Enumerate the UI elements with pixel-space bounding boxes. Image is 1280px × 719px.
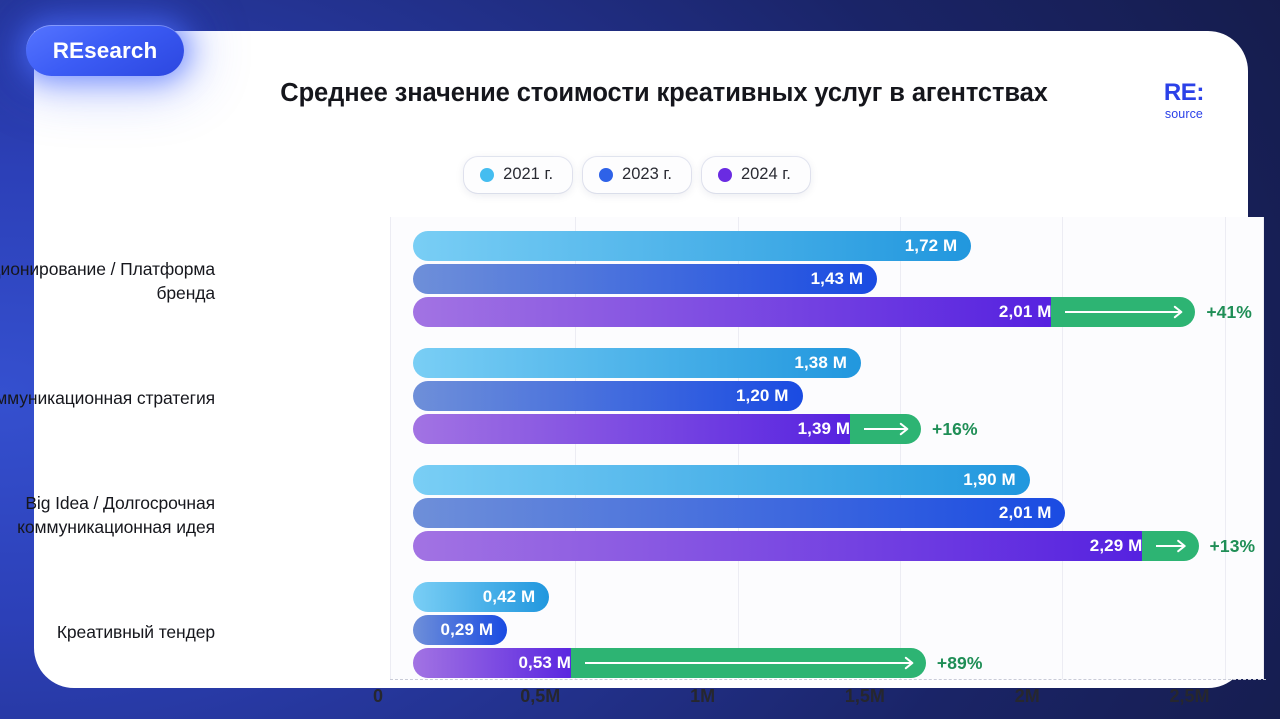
arrow-right-icon xyxy=(864,422,909,436)
legend-item-label: 2023 г. xyxy=(622,165,672,184)
bar-value-label: 0,42 M xyxy=(483,587,550,607)
bar-2021[interactable]: 0,42 M xyxy=(413,582,549,612)
bar-2024[interactable]: 2,01 M xyxy=(413,297,1065,327)
category-label: Коммуникационная стратегия xyxy=(0,367,215,429)
resource-logo: RE: source xyxy=(1164,81,1204,121)
growth-arrow-bar xyxy=(1142,531,1198,561)
research-badge: REsearch xyxy=(26,25,184,76)
bar-row: 1,38 M xyxy=(413,348,861,378)
bar-2024[interactable]: 1,39 M xyxy=(413,414,864,444)
bar-2023[interactable]: 1,43 M xyxy=(413,264,877,294)
bar-2024[interactable]: 0,53 M xyxy=(413,648,585,678)
category-label: Креативный тендер xyxy=(0,601,215,663)
bar-2023[interactable]: 2,01 M xyxy=(413,498,1065,528)
x-axis-tick: 2M xyxy=(1015,686,1040,707)
bar-row: 1,39 M+16% xyxy=(413,414,978,444)
bar-row: 1,90 M xyxy=(413,465,1030,495)
bar-2024[interactable]: 2,29 M xyxy=(413,531,1156,561)
category-label: Big Idea / Долгосрочная коммуникационная… xyxy=(0,484,215,546)
bar-2023[interactable]: 1,20 M xyxy=(413,381,803,411)
bar-group: 1,72 M1,43 M2,01 M+41% xyxy=(391,231,1263,330)
bar-2021[interactable]: 1,72 M xyxy=(413,231,971,261)
growth-percent-label: +16% xyxy=(932,419,978,440)
page-title: Среднее значение стоимости креативных ус… xyxy=(234,78,1094,109)
bar-2021[interactable]: 1,90 M xyxy=(413,465,1030,495)
research-badge-label: REsearch xyxy=(53,38,158,64)
legend-item-2023[interactable]: 2023 г. xyxy=(583,157,691,193)
bar-2023[interactable]: 0,29 M xyxy=(413,615,507,645)
bar-value-label: 1,20 M xyxy=(736,386,803,406)
bar-value-label: 1,72 M xyxy=(905,236,972,256)
legend-item-label: 2021 г. xyxy=(503,165,553,184)
bar-group: 0,42 M0,29 M0,53 M+89% xyxy=(391,582,1263,681)
bar-group: 1,90 M2,01 M2,29 M+13% xyxy=(391,465,1263,564)
legend-item-label: 2024 г. xyxy=(741,165,791,184)
legend-color-dot-icon xyxy=(718,168,732,182)
bar-value-label: 2,01 M xyxy=(999,503,1066,523)
bar-2021[interactable]: 1,38 M xyxy=(413,348,861,378)
x-axis-tick: 0 xyxy=(373,686,383,707)
bar-row: 0,29 M xyxy=(413,615,507,645)
bar-row: 2,01 M xyxy=(413,498,1065,528)
legend-item-2021[interactable]: 2021 г. xyxy=(464,157,572,193)
arrow-right-icon xyxy=(1065,305,1183,319)
arrow-right-icon xyxy=(585,656,914,670)
bar-row: 1,20 M xyxy=(413,381,803,411)
plot-area: 1,72 M1,43 M2,01 M+41%1,38 M1,20 M1,39 M… xyxy=(390,217,1264,679)
bar-row: 1,43 M xyxy=(413,264,877,294)
bar-row: 0,53 M+89% xyxy=(413,648,983,678)
x-axis-tick: 1M xyxy=(690,686,715,707)
growth-percent-label: +89% xyxy=(937,653,983,674)
legend-color-dot-icon xyxy=(599,168,613,182)
bar-value-label: 1,43 M xyxy=(811,269,878,289)
bar-value-label: 1,90 M xyxy=(963,470,1030,490)
bar-row: 2,01 M+41% xyxy=(413,297,1252,327)
category-label: Позиционирование / Платформа бренда xyxy=(0,250,215,312)
growth-arrow-bar xyxy=(1051,297,1195,327)
bar-value-label: 1,38 M xyxy=(794,353,861,373)
bar-row: 2,29 M+13% xyxy=(413,531,1255,561)
bar-row: 0,42 M xyxy=(413,582,549,612)
growth-percent-label: +13% xyxy=(1210,536,1256,557)
bar-group: 1,38 M1,20 M1,39 M+16% xyxy=(391,348,1263,447)
chart-card: Среднее значение стоимости креативных ус… xyxy=(34,31,1248,688)
bar-value-label: 0,29 M xyxy=(441,620,508,640)
arrow-right-icon xyxy=(1156,539,1186,553)
x-axis-tick: 0,5M xyxy=(520,686,560,707)
growth-arrow-bar xyxy=(571,648,926,678)
bar-row: 1,72 M xyxy=(413,231,971,261)
x-axis-tick: 1,5M xyxy=(845,686,885,707)
growth-percent-label: +41% xyxy=(1206,302,1252,323)
resource-logo-main: RE: xyxy=(1164,81,1204,105)
x-axis-line xyxy=(390,679,1266,680)
chart-legend: 2021 г.2023 г.2024 г. xyxy=(34,157,1248,193)
legend-color-dot-icon xyxy=(480,168,494,182)
resource-logo-sub: source xyxy=(1164,108,1204,121)
legend-item-2024[interactable]: 2024 г. xyxy=(702,157,810,193)
growth-arrow-bar xyxy=(850,414,921,444)
x-axis-tick: 2,5M xyxy=(1170,686,1210,707)
